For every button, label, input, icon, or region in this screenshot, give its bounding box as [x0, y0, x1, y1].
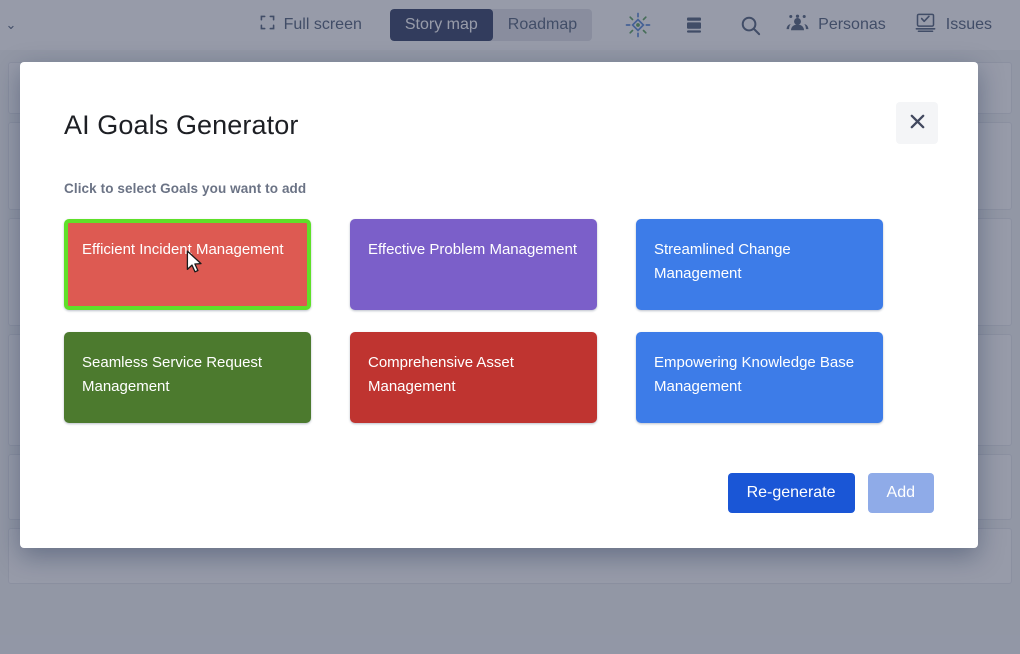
goal-card-label: Streamlined Change Management: [654, 238, 865, 287]
goal-card-label: Efficient Incident Management: [82, 238, 293, 262]
goal-card[interactable]: Streamlined Change Management: [636, 219, 883, 310]
close-icon: [908, 112, 927, 134]
goal-card[interactable]: Seamless Service Request Management: [64, 332, 311, 423]
goals-grid: Efficient Incident Management Effective …: [64, 219, 934, 423]
close-button[interactable]: [896, 102, 938, 144]
goal-card-label: Empowering Knowledge Base Management: [654, 351, 865, 400]
modal-subtitle: Click to select Goals you want to add: [64, 181, 934, 196]
goal-card[interactable]: Effective Problem Management: [350, 219, 597, 310]
goal-card-label: Effective Problem Management: [368, 238, 579, 262]
goal-card-label: Seamless Service Request Management: [82, 351, 293, 400]
add-button[interactable]: Add: [868, 473, 934, 513]
goal-card[interactable]: Efficient Incident Management: [64, 219, 311, 310]
goal-card[interactable]: Empowering Knowledge Base Management: [636, 332, 883, 423]
re-generate-button[interactable]: Re-generate: [728, 473, 855, 513]
goal-card[interactable]: Comprehensive Asset Management: [350, 332, 597, 423]
ai-goals-generator-dialog: AI Goals Generator Click to select Goals…: [20, 62, 978, 548]
page-title: AI Goals Generator: [64, 110, 934, 141]
modal-actions: Re-generate Add: [728, 473, 934, 513]
goal-card-label: Comprehensive Asset Management: [368, 351, 579, 400]
